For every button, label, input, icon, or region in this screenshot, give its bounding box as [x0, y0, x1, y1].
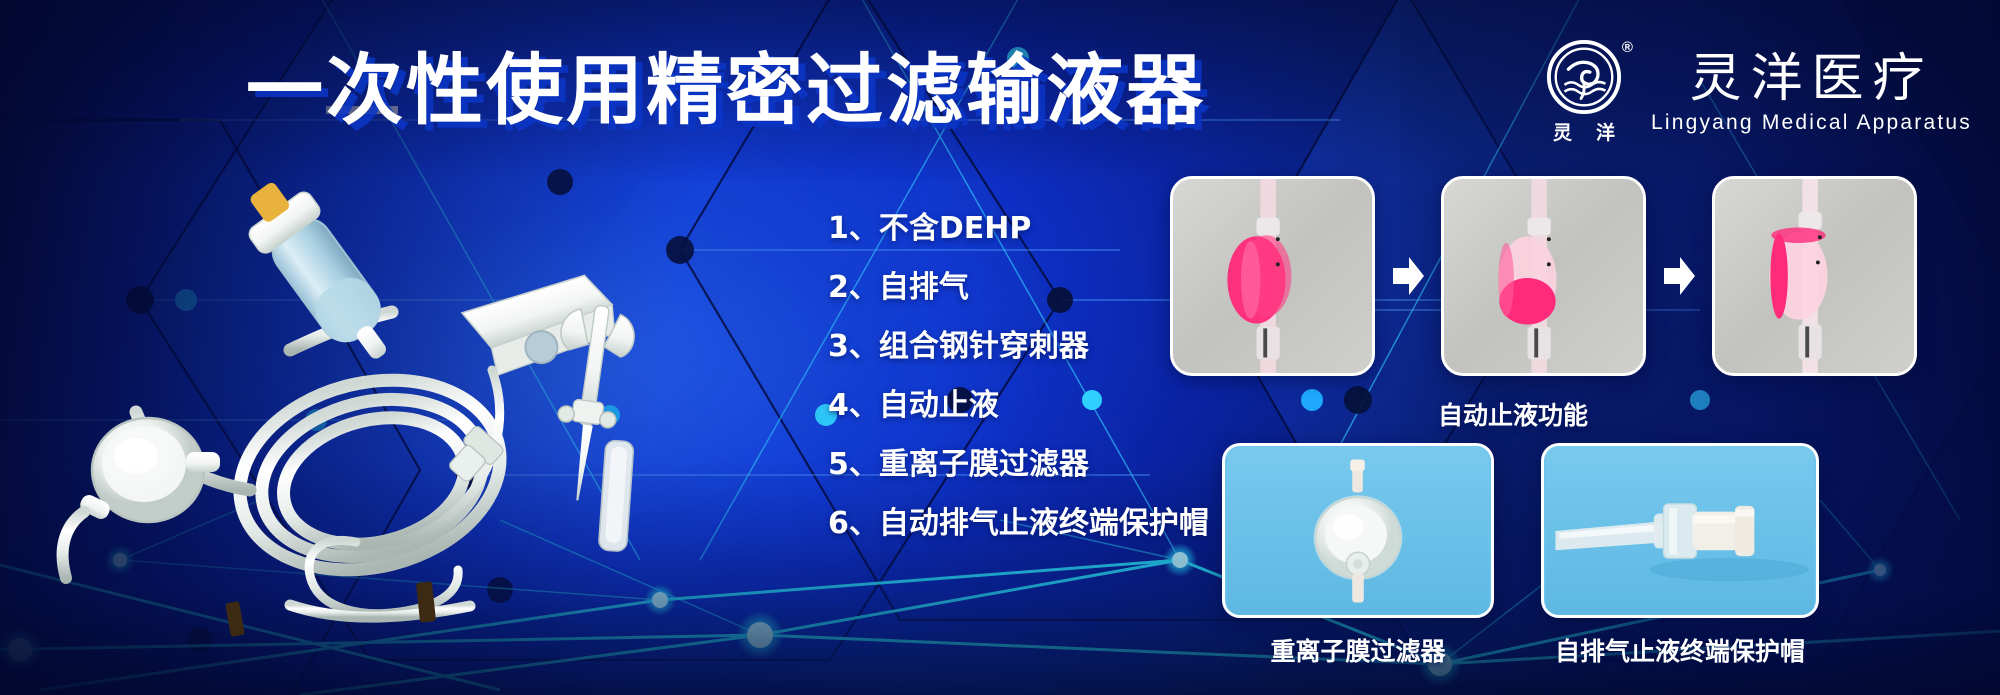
arrow-right-icon-2 [1662, 254, 1696, 298]
logo-emblem-subtext: 灵 洋 [1553, 118, 1615, 145]
registered-mark: ® [1622, 39, 1633, 56]
demo-step-1-photo [1170, 176, 1375, 376]
logo-wordmark: 灵洋医疗 Lingyang Medical Apparatus [1651, 49, 1972, 135]
logo-sub-left: 灵 [1553, 118, 1572, 145]
feature-item-4: 4、自动止液 [828, 389, 1188, 423]
feature-item-1: 1、不含DEHP [828, 212, 1188, 246]
end-cap-connector-photo [1541, 443, 1819, 618]
logo-sub-right: 洋 [1596, 118, 1615, 145]
company-name-en: Lingyang Medical Apparatus [1651, 111, 1972, 135]
demo-step-2-photo [1441, 176, 1646, 376]
auto-stop-caption: 自动止液功能 [1170, 396, 1856, 432]
feature-photo-captions: 重离子膜过滤器 自排气止液终端保护帽 [1222, 632, 1819, 668]
feature-item-3: 3、组合钢针穿刺器 [828, 330, 1188, 364]
feature-item-5: 5、重离子膜过滤器 [828, 448, 1188, 482]
wave-emblem-icon: ® [1545, 38, 1623, 116]
company-logo: ® 灵 洋 灵洋医疗 Lingyang Medical Apparatus [1535, 38, 1972, 145]
auto-stop-demo-row [1170, 176, 1917, 376]
product-banner: 一次性使用精密过滤输液器 一次性使用精密过滤输液器 ® 灵 洋 [0, 0, 2000, 695]
feature-photo-row [1222, 443, 1819, 618]
feature-list: 1、不含DEHP 2、自排气 3、组合钢针穿刺器 4、自动止液 5、重离子膜过滤… [828, 212, 1188, 541]
banner-title-text: 一次性使用精密过滤输液器 [246, 42, 1126, 142]
logo-emblem: ® 灵 洋 [1535, 38, 1633, 145]
caption-heavy-ion-filter: 重离子膜过滤器 [1222, 632, 1494, 668]
feature-item-6: 6、自动排气止液终端保护帽 [828, 507, 1188, 541]
heavy-ion-filter-photo [1222, 443, 1494, 618]
product-photo [40, 150, 800, 670]
demo-step-3-photo [1712, 176, 1917, 376]
company-name-cn: 灵洋医疗 [1689, 49, 1933, 109]
banner-title: 一次性使用精密过滤输液器 一次性使用精密过滤输液器 [246, 42, 1126, 142]
feature-item-2: 2、自排气 [828, 271, 1188, 305]
arrow-right-icon [1391, 254, 1425, 298]
caption-end-cap: 自排气止液终端保护帽 [1541, 632, 1819, 668]
